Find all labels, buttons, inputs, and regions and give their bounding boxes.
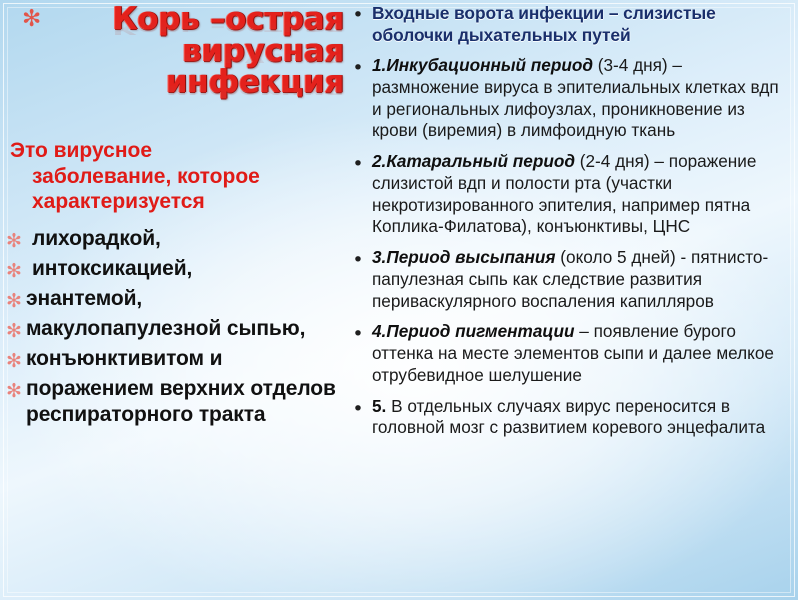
- list-item-text: Входные ворота инфекции – слизистые обол…: [372, 2, 796, 46]
- lead-line-3: характеризуется: [10, 189, 352, 215]
- list-item: ✻ лихорадкой,: [4, 226, 352, 252]
- list-item-text: 1.Инкубационный период (3-4 дня) – размн…: [372, 55, 796, 142]
- title-lines: Корь –острая Корь –острая вирусная вирус…: [45, 4, 352, 99]
- list-item-text: 5. В отдельных случаях вирус переносится…: [372, 396, 796, 440]
- list-item-text: 3.Период высыпания (около 5 дней) - пятн…: [372, 247, 796, 312]
- list-item: • 4.Период пигментации – появление бурог…: [344, 321, 796, 386]
- title-line-3-text: инфекция: [166, 64, 344, 100]
- list-item-label: лихорадкой,: [24, 226, 352, 252]
- title-line-1: Корь –острая Корь –острая: [45, 4, 344, 36]
- list-item-lead: 4.Период пигментации: [372, 321, 575, 341]
- title-line-1-text: Корь –острая: [112, 1, 344, 37]
- list-item: ✻ макулопапулезной сыпью,: [4, 316, 352, 342]
- list-item-lead: 1.Инкубационный период: [372, 55, 593, 75]
- asterisk-bullet-icon: ✻: [4, 376, 24, 401]
- title-line-3: инфекция инфекция: [45, 67, 344, 99]
- list-item: ✻ конъюнктивитом и: [4, 346, 352, 372]
- slide-title: ✻ Корь –острая Корь –острая вирусная вир…: [22, 4, 352, 99]
- list-item-lead: 5.: [372, 396, 386, 416]
- list-item-label: конъюнктивитом и: [24, 346, 352, 372]
- asterisk-bullet-icon: ✻: [4, 316, 24, 341]
- asterisk-bullet-icon: ✻: [4, 346, 24, 371]
- asterisk-bullet-icon: ✻: [4, 226, 24, 251]
- asterisk-bullet-icon: ✻: [4, 286, 24, 311]
- list-item: ✻ поражением верхних отделов респираторн…: [4, 376, 352, 428]
- list-item: • 3.Период высыпания (около 5 дней) - пя…: [344, 247, 796, 312]
- asterisk-bullet-icon: ✻: [4, 256, 24, 281]
- list-item: • 2.Катаральный период (2-4 дня) – пораж…: [344, 151, 796, 238]
- list-item: • 5. В отдельных случаях вирус переносит…: [344, 396, 796, 440]
- list-item-lead: 3.Период высыпания: [372, 247, 556, 267]
- list-item-text: 2.Катаральный период (2-4 дня) – поражен…: [372, 151, 796, 238]
- list-item-body: В отдельных случаях вирус переносится в …: [372, 396, 765, 438]
- symptom-list: ✻ лихорадкой, ✻ интоксикацией, ✻ энантем…: [4, 226, 352, 432]
- list-item-lead: 2.Катаральный период: [372, 151, 575, 171]
- list-item-text: 4.Период пигментации – появление бурого …: [372, 321, 796, 386]
- list-item-body: Входные ворота инфекции – слизистые обол…: [372, 3, 716, 45]
- list-item: ✻ энантемой,: [4, 286, 352, 312]
- title-line-2-text: вирусная: [182, 33, 344, 69]
- lead-paragraph: Это вирусное заболевание, которое характ…: [10, 138, 352, 215]
- list-item: • Входные ворота инфекции – слизистые об…: [344, 2, 796, 46]
- slide-canvas: ✻ Корь –острая Корь –острая вирусная вир…: [0, 0, 798, 600]
- list-item-label: интоксикацией,: [24, 256, 352, 282]
- title-line-2: вирусная вирусная: [45, 36, 344, 68]
- asterisk-bullet-icon: ✻: [22, 8, 41, 31]
- list-item-label: энантемой,: [24, 286, 352, 312]
- left-column: ✻ Корь –острая Корь –острая вирусная вир…: [0, 0, 352, 600]
- list-item-label: макулопапулезной сыпью,: [24, 316, 352, 342]
- list-item: • 1.Инкубационный период (3-4 дня) – раз…: [344, 55, 796, 142]
- lead-line-1: Это вирусное: [10, 139, 152, 162]
- list-item-label: поражением верхних отделов респираторног…: [24, 376, 352, 428]
- list-item: ✻ интоксикацией,: [4, 256, 352, 282]
- right-column: • Входные ворота инфекции – слизистые об…: [344, 2, 796, 598]
- lead-line-2: заболевание, которое: [10, 164, 352, 190]
